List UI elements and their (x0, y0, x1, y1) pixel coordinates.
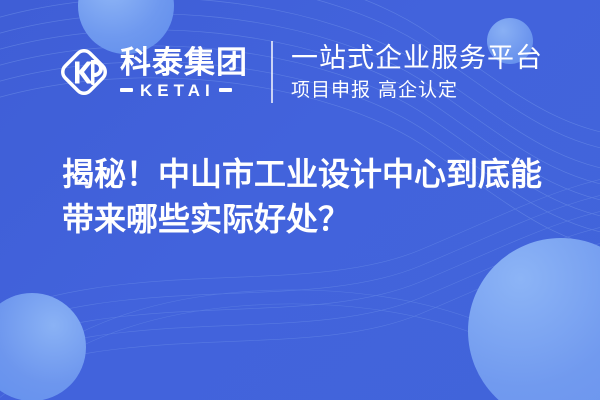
banner-title: 揭秘！中山市工业设计中心到底能带来哪些实际好处？ (62, 152, 562, 242)
header-divider (271, 41, 273, 103)
decor-circle-bottom-left (0, 293, 86, 400)
tagline-block: 一站式企业服务平台 项目申报 高企认定 (291, 43, 543, 101)
banner-header: 科泰集团 KETAI 一站式企业服务平台 项目申报 高企认定 (0, 38, 600, 106)
brand-wordmark: 科泰集团 KETAI (120, 46, 248, 99)
tagline-sub: 项目申报 高企认定 (291, 79, 543, 101)
brand-name-en: KETAI (140, 82, 215, 99)
promo-banner: 科泰集团 KETAI 一站式企业服务平台 项目申报 高企认定 揭秘！中山市工业设… (0, 0, 600, 400)
ketai-diamond-monogram-logo (58, 46, 110, 98)
brand-logo: 科泰集团 KETAI (58, 46, 248, 99)
brand-name-en-row: KETAI (120, 82, 248, 99)
decor-circle-bottom-right (468, 238, 600, 400)
tagline-main: 一站式企业服务平台 (291, 43, 543, 74)
dash-right-icon (219, 88, 232, 92)
dash-left-icon (120, 88, 133, 92)
brand-name-cn: 科泰集团 (120, 46, 248, 80)
